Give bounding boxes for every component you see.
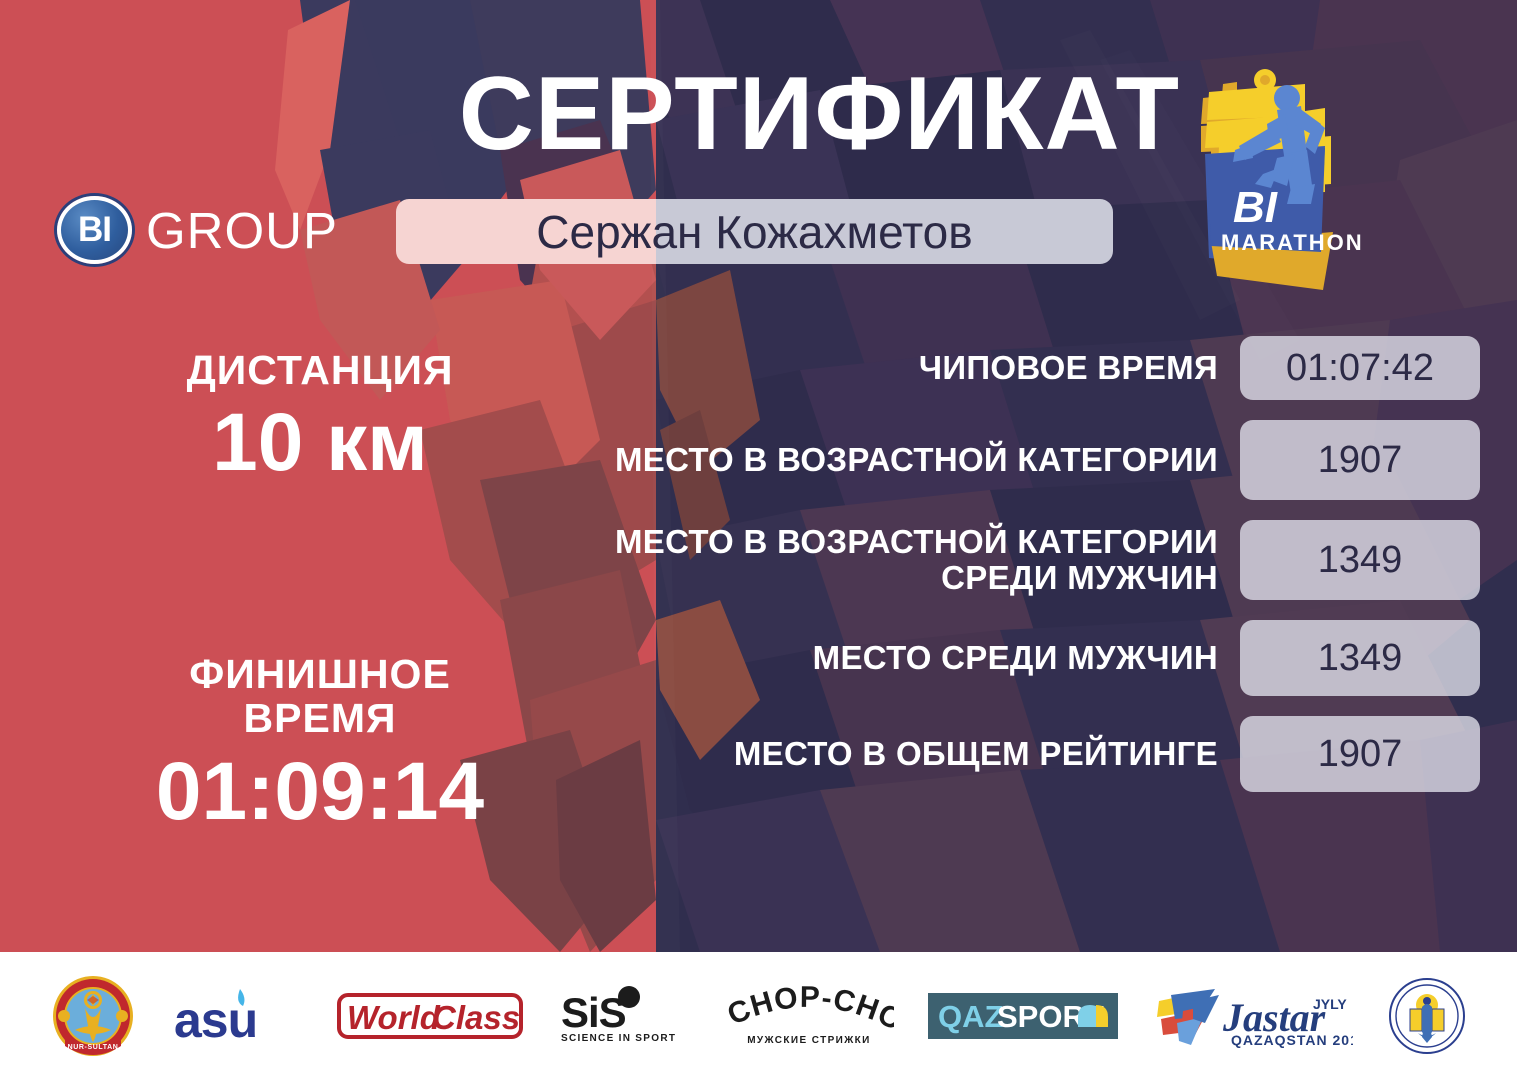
sponsor-ministry <box>1388 977 1466 1055</box>
sponsor-jastar-jyly: Jastar JYLY QAZAQSTAN 2019 <box>1153 983 1353 1049</box>
svg-text:Class: Class <box>432 999 520 1036</box>
result-row: ЧИПОВОЕ ВРЕМЯ 01:07:42 <box>600 336 1480 400</box>
jastar-jyly-logo-icon: Jastar JYLY QAZAQSTAN 2019 <box>1153 983 1353 1049</box>
result-row: МЕСТО СРЕДИ МУЖЧИН 1349 <box>600 620 1480 696</box>
athlete-name-pill: Сержан Кожахметов <box>396 199 1113 264</box>
result-label: ЧИПОВОЕ ВРЕМЯ <box>600 350 1240 386</box>
sponsor-chop-chop: CHOP-CHOP МУЖСКИЕ СТРИЖКИ <box>724 985 894 1047</box>
result-label: МЕСТО В ВОЗРАСТНОЙ КАТЕГОРИИ СРЕДИ МУЖЧИ… <box>600 524 1240 597</box>
result-rows: ЧИПОВОЕ ВРЕМЯ 01:07:42 МЕСТО В ВОЗРАСТНО… <box>600 336 1480 812</box>
asu-logo-icon: asu <box>170 985 302 1047</box>
svg-text:JYLY: JYLY <box>1313 996 1347 1012</box>
result-row: МЕСТО В ОБЩЕМ РЕЙТИНГЕ 1907 <box>600 716 1480 792</box>
bi-group-logo: BI GROUP <box>57 196 338 264</box>
nur-sultan-emblem-icon: NUR-SULTAN <box>51 974 135 1058</box>
world-class-logo-icon: World Class <box>337 987 523 1045</box>
distance-caption: ДИСТАНЦИЯ <box>110 348 530 392</box>
sponsor-sis: SiS SCIENCE IN SPORT <box>557 985 689 1047</box>
finish-time-block: ФИНИШНОЕ ВРЕМЯ 01:09:14 <box>110 652 530 837</box>
svg-text:asu: asu <box>174 992 257 1047</box>
page-title: СЕРТИФИКАТ <box>0 62 1180 166</box>
svg-text:CHOP-CHOP: CHOP-CHOP <box>724 985 894 1038</box>
result-value: 1907 <box>1240 420 1480 500</box>
sis-logo-icon: SiS SCIENCE IN SPORT <box>557 985 689 1047</box>
finish-time-value: 01:09:14 <box>110 747 530 837</box>
bi-group-word: GROUP <box>146 201 338 260</box>
svg-text:МУЖСКИЕ СТРИЖКИ: МУЖСКИЕ СТРИЖКИ <box>747 1035 871 1046</box>
chop-chop-logo-icon: CHOP-CHOP МУЖСКИЕ СТРИЖКИ <box>724 985 894 1047</box>
svg-text:QAZAQSTAN 2019: QAZAQSTAN 2019 <box>1231 1032 1353 1048</box>
qazsport-logo-icon: QAZ SPORT <box>928 993 1118 1039</box>
badge-sub-text: MARATHON <box>1221 230 1364 255</box>
svg-text:NUR-SULTAN: NUR-SULTAN <box>68 1044 119 1051</box>
sponsor-bar: NUR-SULTAN asu World Class SiS SCIENCE I… <box>0 952 1517 1080</box>
result-value: 1349 <box>1240 620 1480 696</box>
bi-marathon-badge-icon: BI MARATHON <box>1175 62 1375 297</box>
badge-main-text: BI <box>1233 183 1278 232</box>
result-row: МЕСТО В ВОЗРАСТНОЙ КАТЕГОРИИ 1907 <box>600 420 1480 500</box>
svg-text:QAZ: QAZ <box>938 999 1004 1034</box>
result-label: МЕСТО СРЕДИ МУЖЧИН <box>600 640 1240 676</box>
result-value: 1907 <box>1240 716 1480 792</box>
bi-mark-icon: BI <box>57 196 132 264</box>
sponsor-nur-sultan: NUR-SULTAN <box>51 974 135 1058</box>
finish-time-caption-line1: ФИНИШНОЕ <box>110 652 530 696</box>
ministry-emblem-icon <box>1388 977 1466 1055</box>
result-label: МЕСТО В ВОЗРАСТНОЙ КАТЕГОРИИ <box>600 442 1240 478</box>
athlete-name: Сержан Кожахметов <box>536 205 972 259</box>
sponsor-asu: asu <box>170 985 302 1047</box>
bi-mark-text: BI <box>78 210 111 250</box>
svg-text:World: World <box>347 999 441 1036</box>
svg-text:SiS: SiS <box>561 989 626 1036</box>
result-value: 1349 <box>1240 520 1480 600</box>
distance-value: 10 км <box>110 398 530 488</box>
sponsor-world-class: World Class <box>337 987 523 1045</box>
finish-time-caption-line2: ВРЕМЯ <box>110 696 530 740</box>
distance-block: ДИСТАНЦИЯ 10 км <box>110 348 530 488</box>
result-label: МЕСТО В ОБЩЕМ РЕЙТИНГЕ <box>600 736 1240 772</box>
sponsor-qazsport: QAZ SPORT <box>928 993 1118 1039</box>
svg-text:SCIENCE IN SPORT: SCIENCE IN SPORT <box>561 1033 676 1044</box>
certificate: СЕРТИФИКАТ Сержан Кожахметов BI GROUP <box>0 0 1517 1080</box>
result-row: МЕСТО В ВОЗРАСТНОЙ КАТЕГОРИИ СРЕДИ МУЖЧИ… <box>600 520 1480 600</box>
result-value: 01:07:42 <box>1240 336 1480 400</box>
